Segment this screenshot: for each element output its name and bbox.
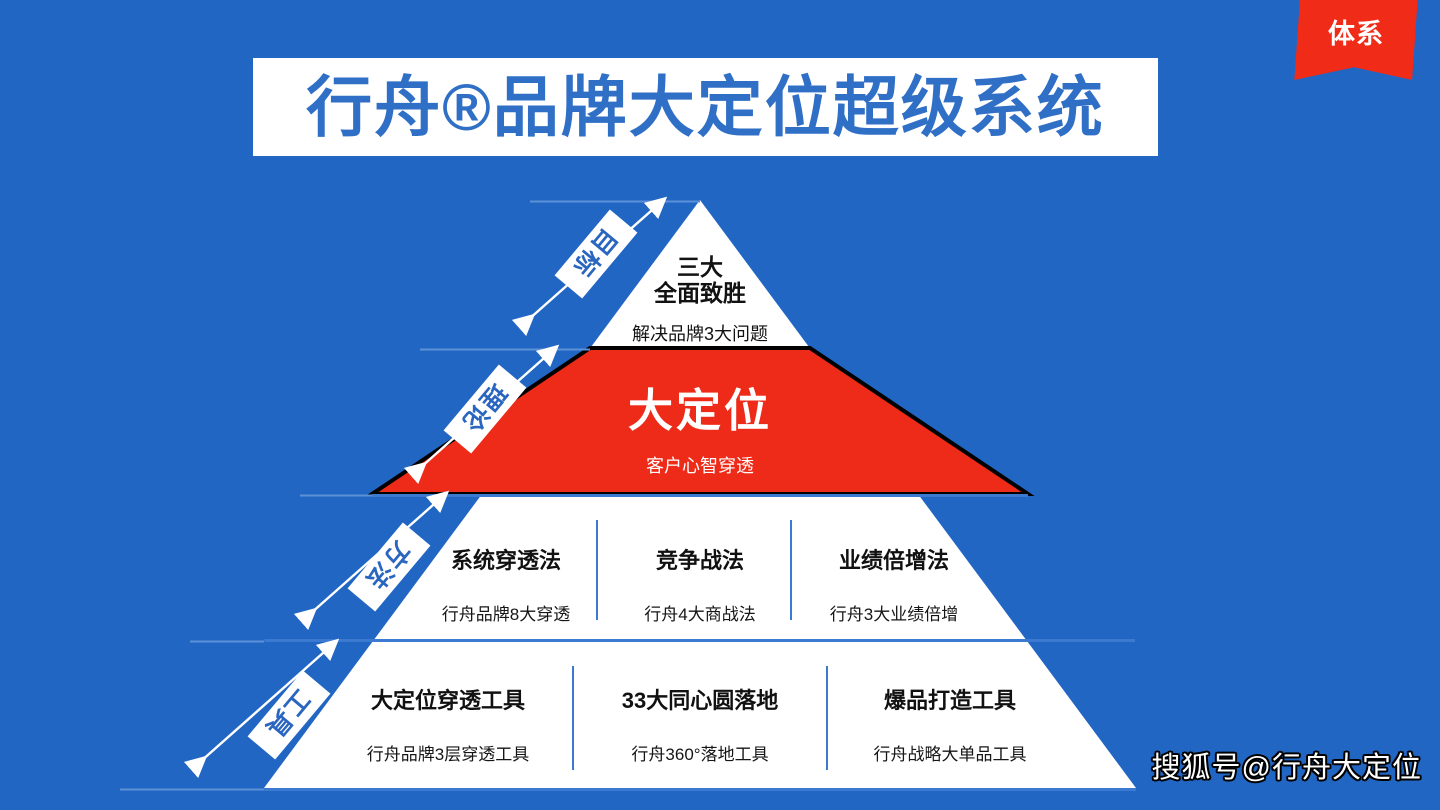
- tier-method-column-1-title: 系统穿透法: [420, 550, 592, 572]
- tier-tool-column-2-title: 33大同心圆落地: [600, 690, 800, 712]
- tier-tool-column-1: 大定位穿透工具 行舟品牌3层穿透工具: [348, 690, 548, 765]
- tier-method-column-1: 系统穿透法 行舟品牌8大穿透: [420, 550, 592, 625]
- tier-method-divider-2: [790, 520, 792, 620]
- tier-tool-column-3: 爆品打造工具 行舟战略大单品工具: [850, 690, 1050, 765]
- tier-tool-column-1-subtitle: 行舟品牌3层穿透工具: [348, 740, 548, 765]
- tier-method-column-3-subtitle: 行舟3大业绩倍增: [808, 600, 980, 625]
- tier-tool-column-2-subtitle: 行舟360°落地工具: [600, 740, 800, 765]
- tier-tool-column-3-title: 爆品打造工具: [850, 690, 1050, 712]
- tier-method-column-3-title: 业绩倍增法: [808, 550, 980, 572]
- watermark: 搜狐号@行舟大定位: [1152, 744, 1422, 786]
- tier-tool-column-2: 33大同心圆落地 行舟360°落地工具: [600, 690, 800, 765]
- tier-method-column-3: 业绩倍增法 行舟3大业绩倍增: [808, 550, 980, 625]
- tier-tool-divider-2: [826, 666, 828, 770]
- tier-tool-divider-1: [572, 666, 574, 770]
- tier-tool-column-3-subtitle: 行舟战略大单品工具: [850, 740, 1050, 765]
- tier-tool-column-1-title: 大定位穿透工具: [348, 690, 548, 712]
- tier-method-column-2-subtitle: 行舟4大商战法: [614, 600, 786, 625]
- tier-method-column-2: 竞争战法 行舟4大商战法: [614, 550, 786, 625]
- tier-method-column-1-subtitle: 行舟品牌8大穿透: [420, 600, 592, 625]
- tier-method-column-2-title: 竞争战法: [614, 550, 786, 572]
- tier-method-divider-1: [596, 520, 598, 620]
